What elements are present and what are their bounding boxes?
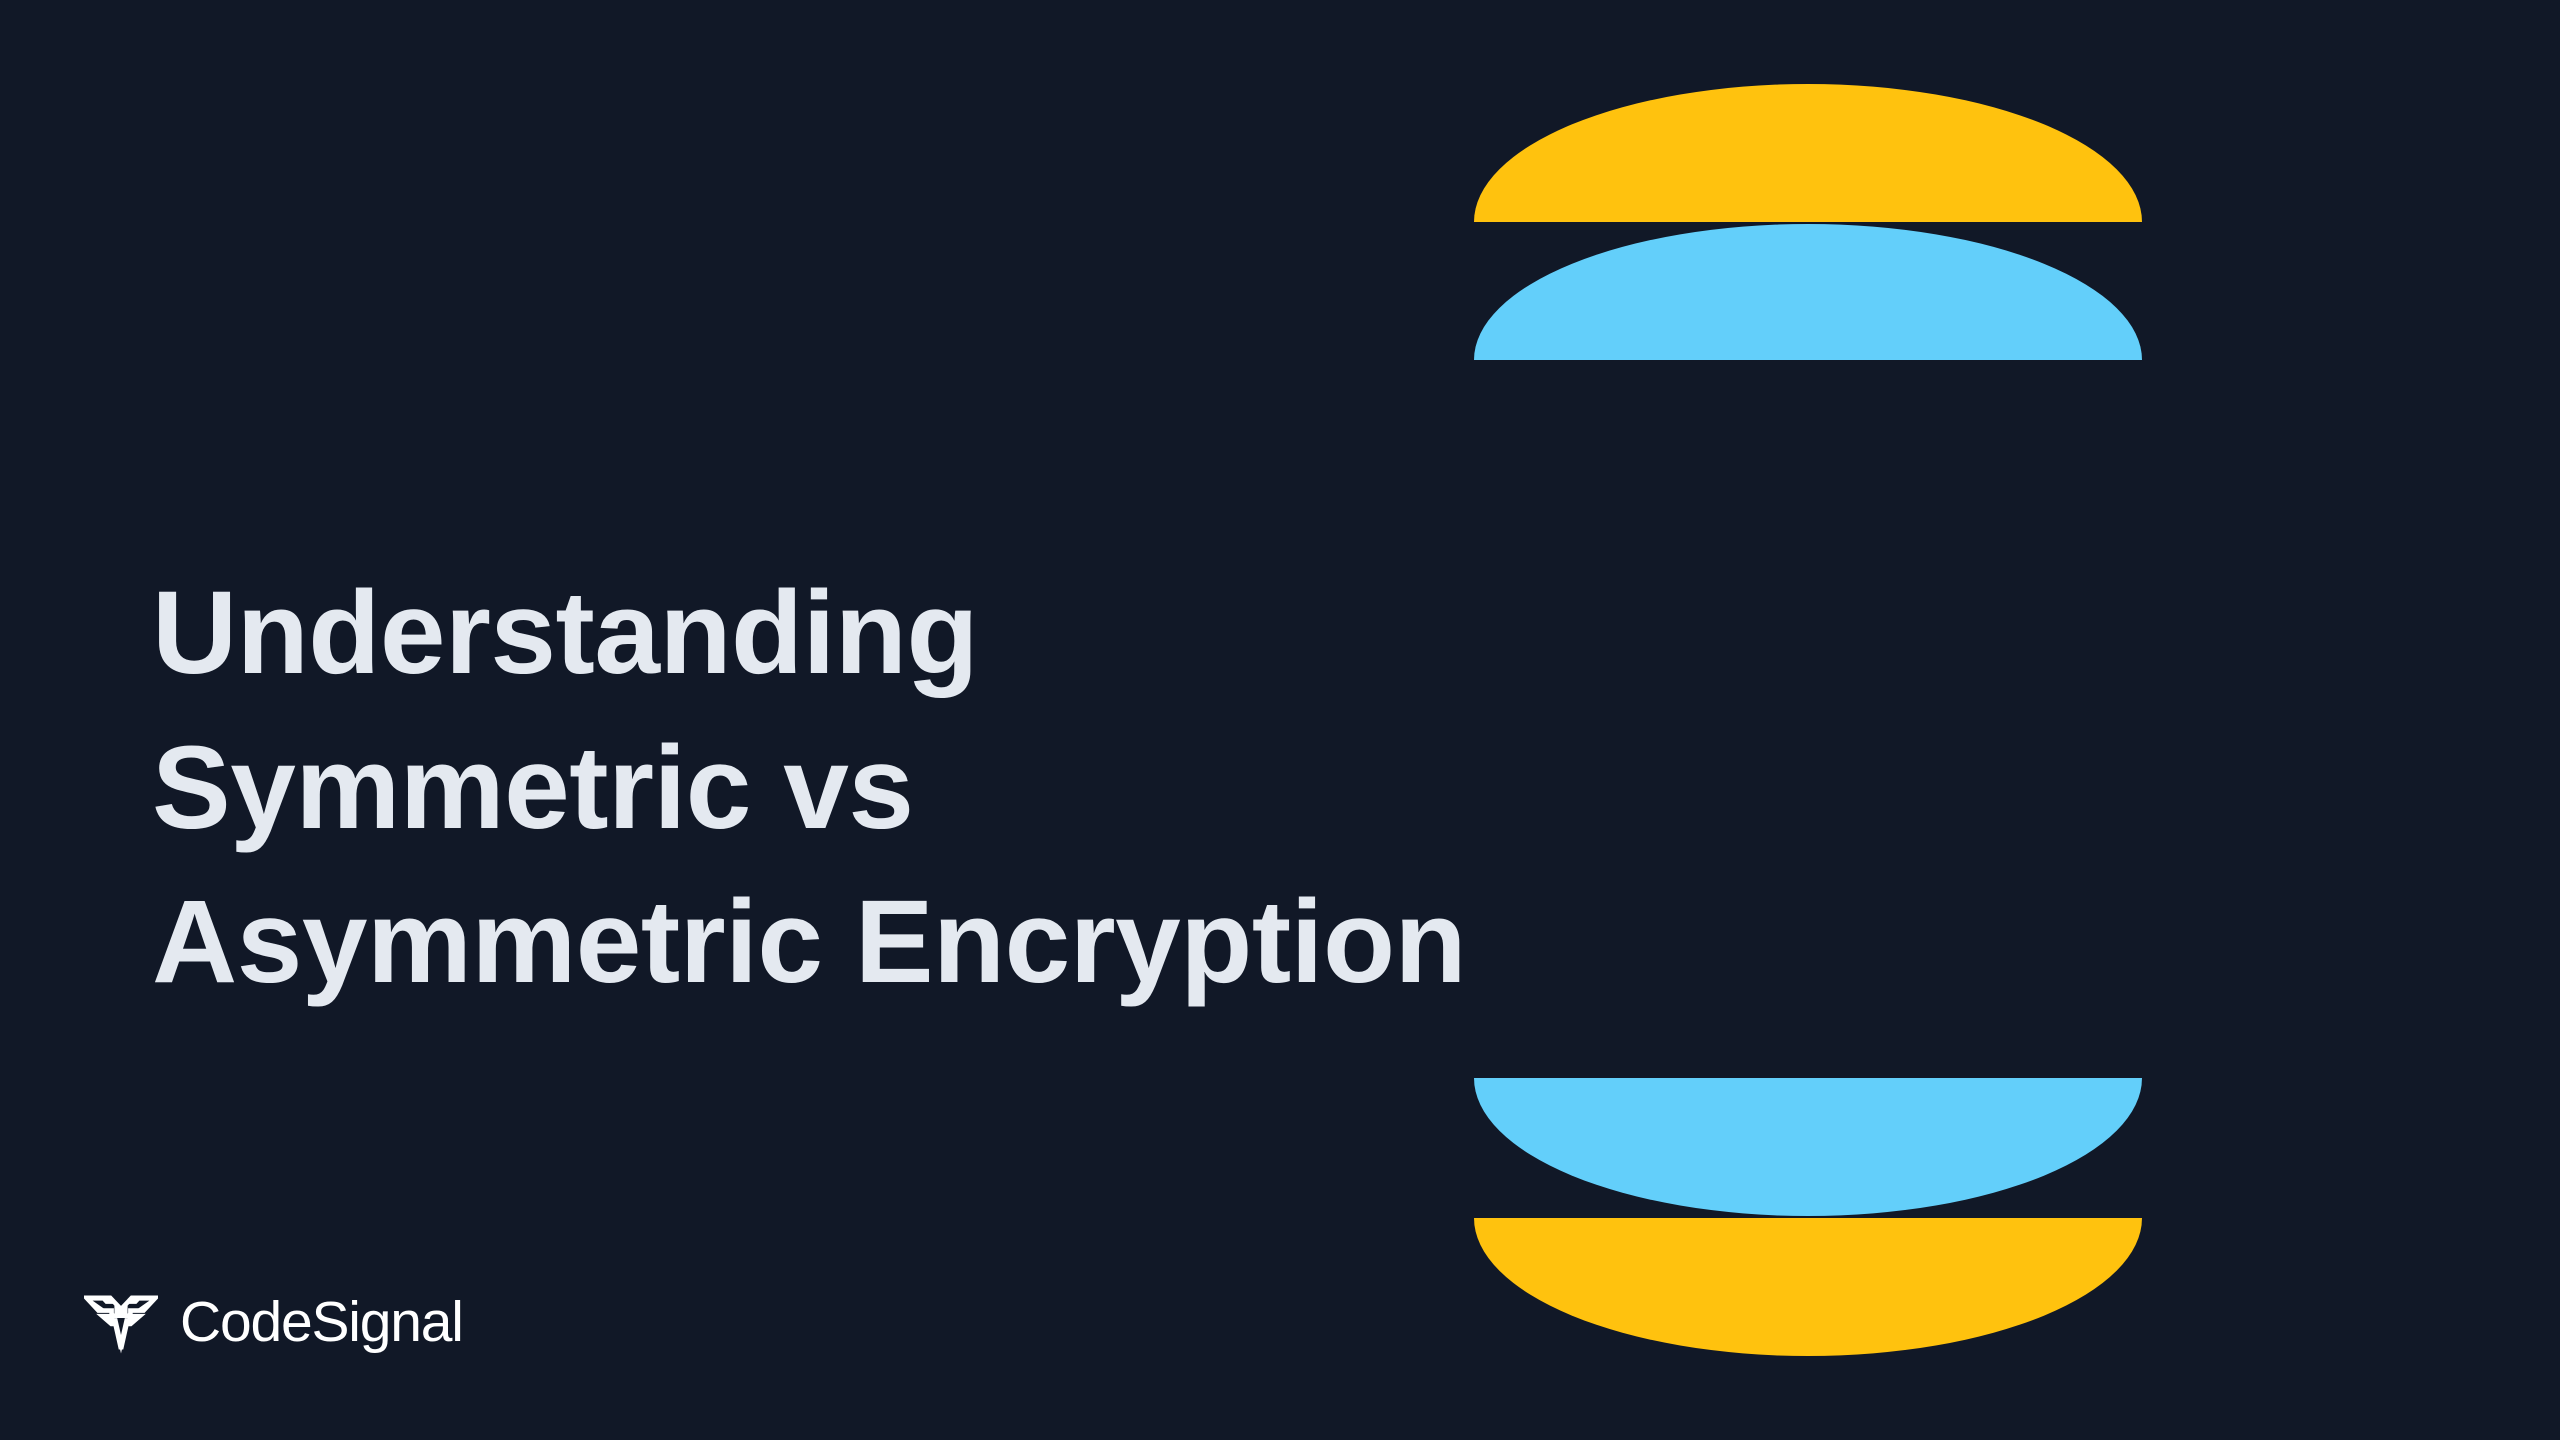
- bowl-arc-down-yellow-icon: [1474, 1218, 2142, 1356]
- dome-arc-up-blue-icon: [1474, 224, 2142, 360]
- bowl-arc-down-blue-icon: [1474, 1078, 2142, 1216]
- codesignal-wing-mark-icon: [84, 1289, 158, 1355]
- brand-wordmark: CodeSignal: [180, 1294, 463, 1351]
- slide-canvas: Understanding Symmetric vs Asymmetric En…: [0, 0, 2560, 1440]
- page-title: Understanding Symmetric vs Asymmetric En…: [152, 556, 1492, 1020]
- decoration-top-right: [1474, 84, 2142, 360]
- title-block: Understanding Symmetric vs Asymmetric En…: [152, 556, 1492, 1020]
- dome-arc-up-yellow-icon: [1474, 84, 2142, 222]
- brand-logo: CodeSignal: [84, 1286, 463, 1358]
- decoration-bottom-right: [1474, 1078, 2142, 1356]
